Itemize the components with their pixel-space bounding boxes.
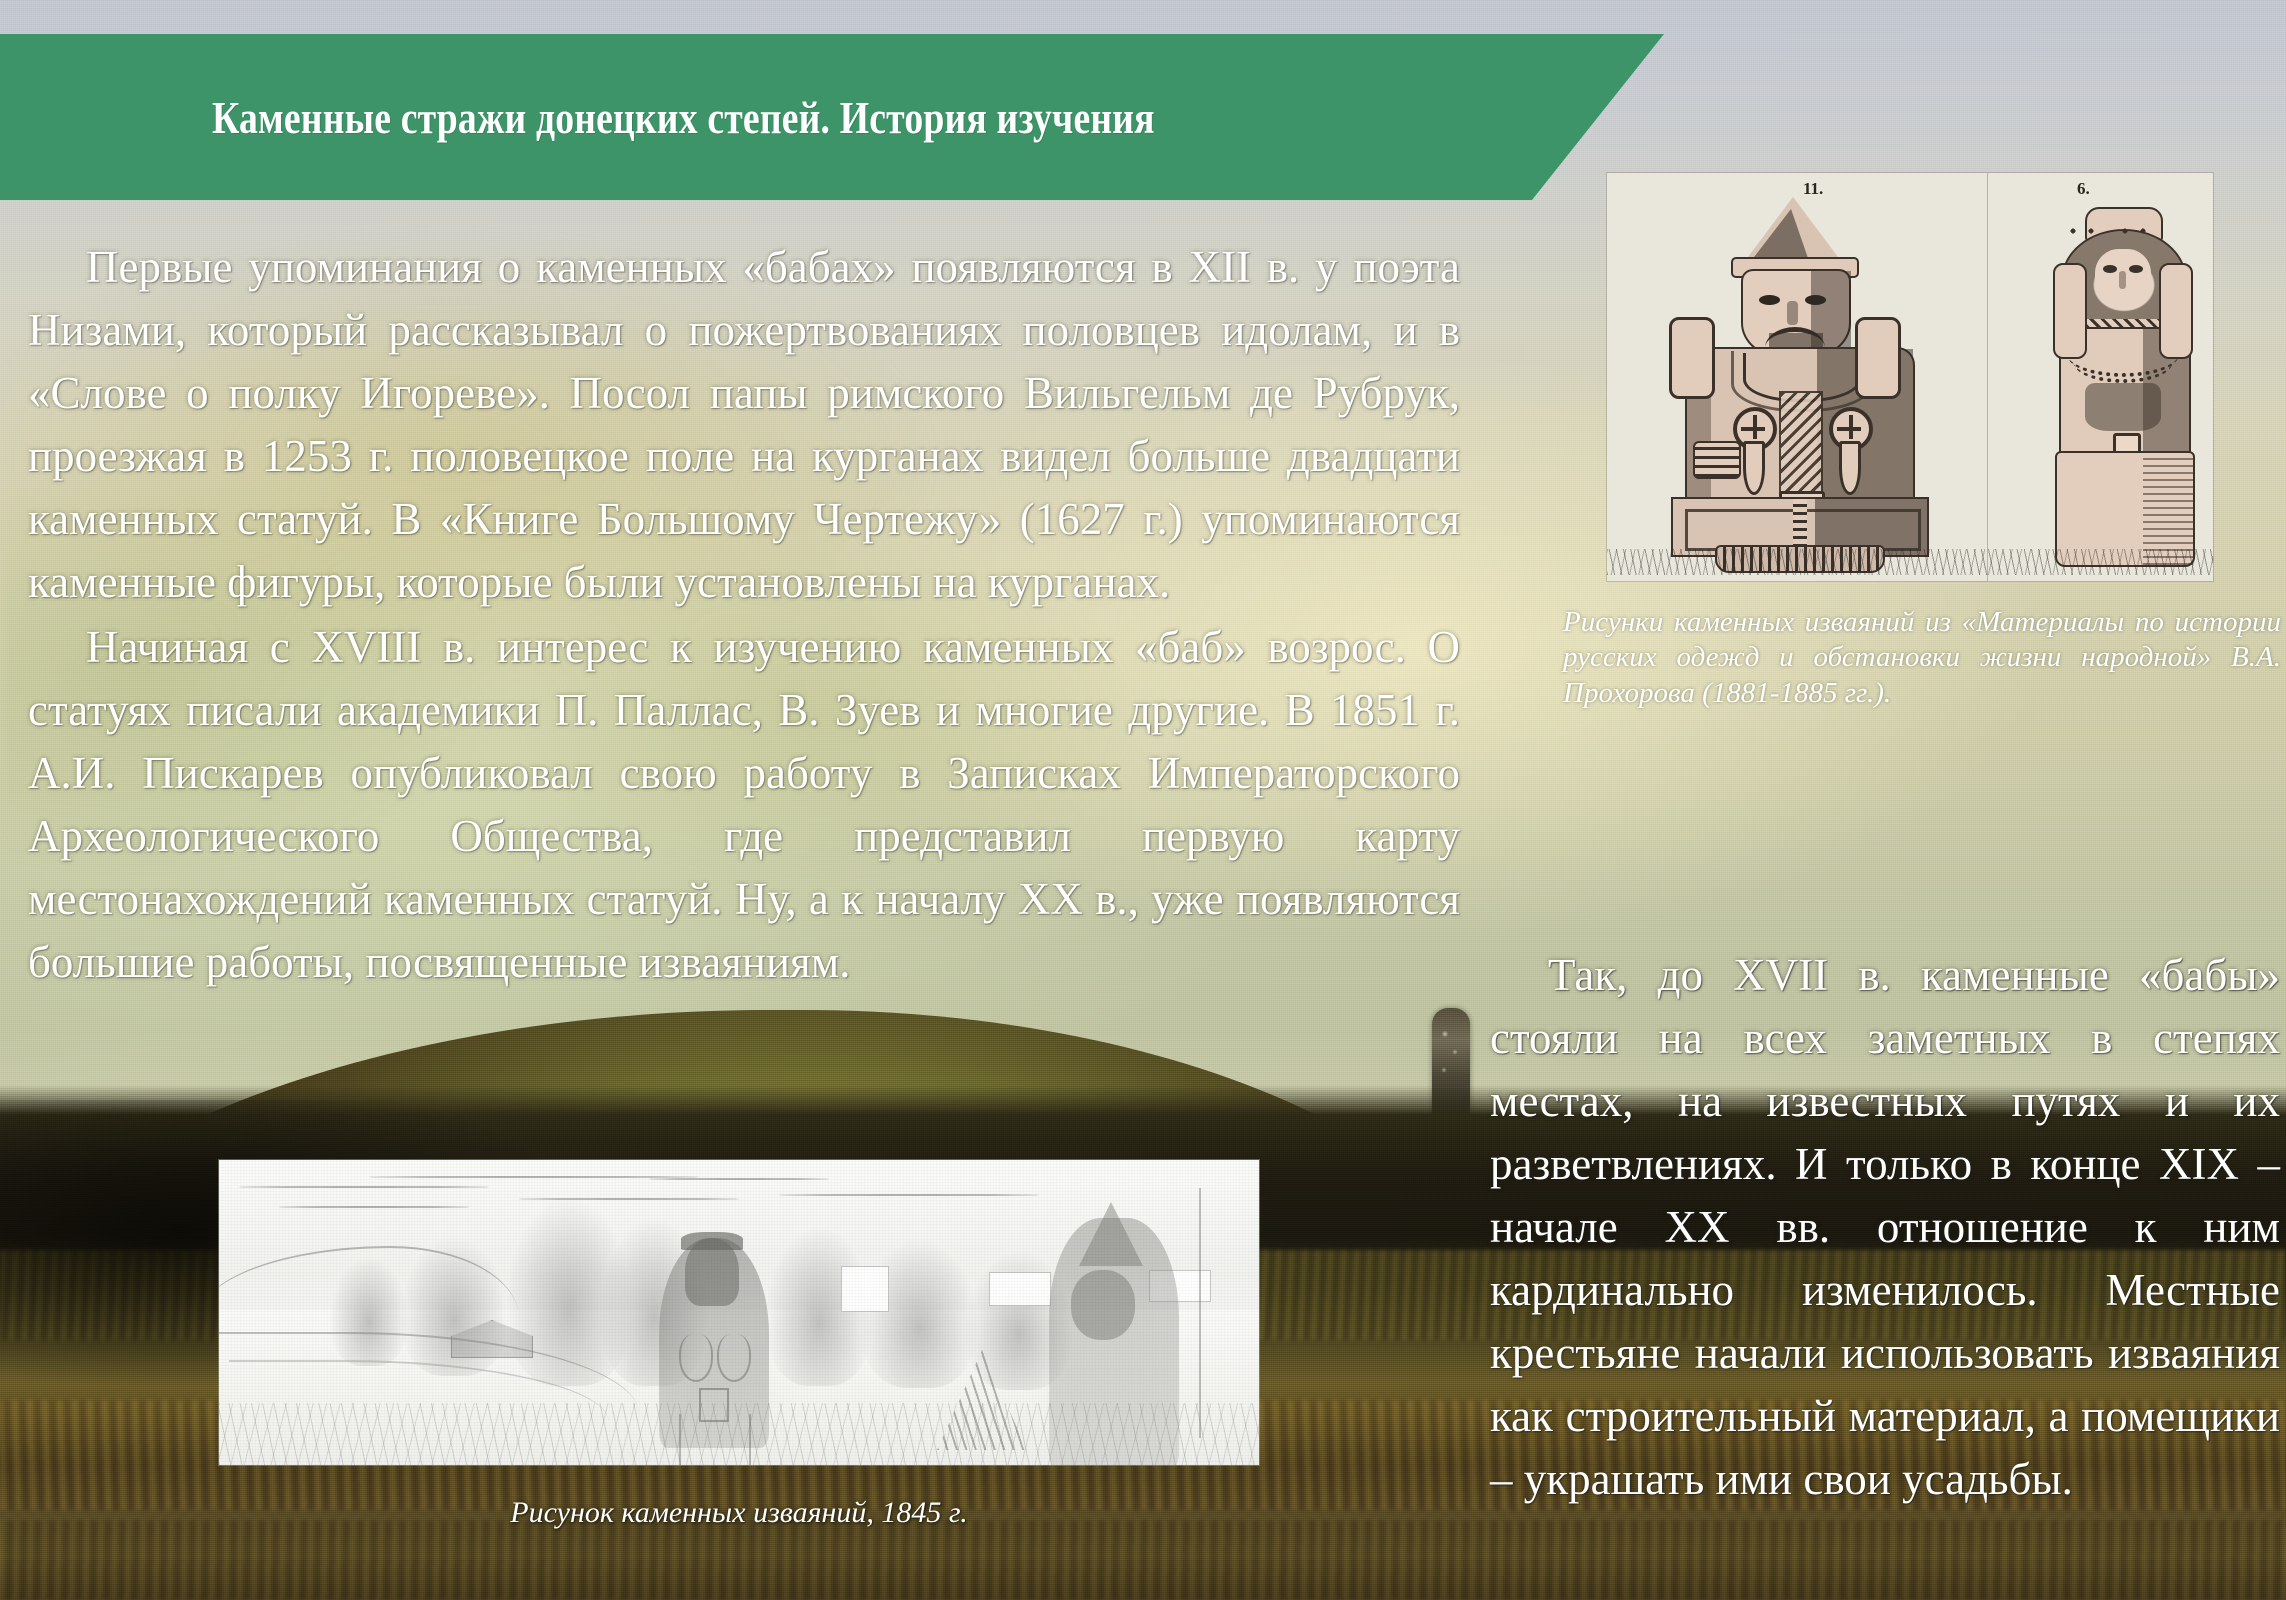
sketch-caption: Рисунок каменных изваяний, 1845 г. — [219, 1496, 1259, 1530]
right-text-column: Так, до XVII в. каменные «бабы» стояли н… — [1490, 944, 2280, 1511]
female-statue-headdress-beads — [2065, 223, 2151, 239]
paragraph-3: Так, до XVII в. каменные «бабы» стояли н… — [1490, 944, 2280, 1511]
statue-head — [1741, 269, 1851, 359]
female-statue-necklace-2 — [2073, 339, 2173, 383]
engraved-female-statue-figure — [2047, 207, 2197, 563]
female-statue-face — [2095, 249, 2151, 307]
female-statue-eye-right — [2129, 265, 2143, 273]
statue-eye-right — [1805, 295, 1826, 305]
engraving-figure-label-right: 6. — [2077, 179, 2090, 199]
engraving-image-stone-statues: 11. 6. — [1607, 173, 2213, 581]
female-statue-nose — [2119, 271, 2126, 289]
statue-pendant-strap-right — [1839, 441, 1861, 495]
title-banner: Каменные стражи донецких степей. История… — [0, 34, 1664, 200]
engraving-caption: Рисунки каменных изваяний из «Материалы … — [1563, 605, 2281, 711]
statue-arm-left — [1669, 317, 1715, 399]
engraved-male-statue-figure — [1659, 197, 1939, 565]
paragraph-2: Начиная с XVIII в. интерес к изучению ка… — [28, 616, 1460, 994]
statue-center-ornament-band — [1779, 391, 1823, 493]
female-statue-arm-right — [2159, 263, 2193, 359]
statue-hat-shading — [1751, 209, 1809, 261]
statue-armband — [1693, 441, 1741, 479]
statue-nose — [1787, 301, 1798, 325]
female-statue-chest-damage — [2085, 383, 2161, 431]
paragraph-1: Первые упоминания о каменных «бабах» поя… — [28, 236, 1460, 614]
statue-eye-left — [1759, 295, 1780, 305]
pencil-sketch-image — [219, 1160, 1259, 1465]
slide-title: Каменные стражи донецких степей. История… — [212, 91, 1155, 144]
left-text-column: Первые упоминания о каменных «бабах» поя… — [28, 236, 1460, 994]
background-grass-band — [0, 1520, 2286, 1600]
female-statue-arm-left — [2053, 263, 2087, 359]
engraving-ground-hatching — [1607, 549, 2213, 575]
female-statue-eye-left — [2103, 265, 2117, 273]
statue-arm-right — [1855, 317, 1901, 399]
sketch-paper-grain — [219, 1160, 1259, 1465]
engraving-divider — [1987, 173, 1988, 581]
statue-pendant-strap-left — [1743, 441, 1765, 495]
engraving-figure-label-left: 11. — [1803, 179, 1823, 199]
